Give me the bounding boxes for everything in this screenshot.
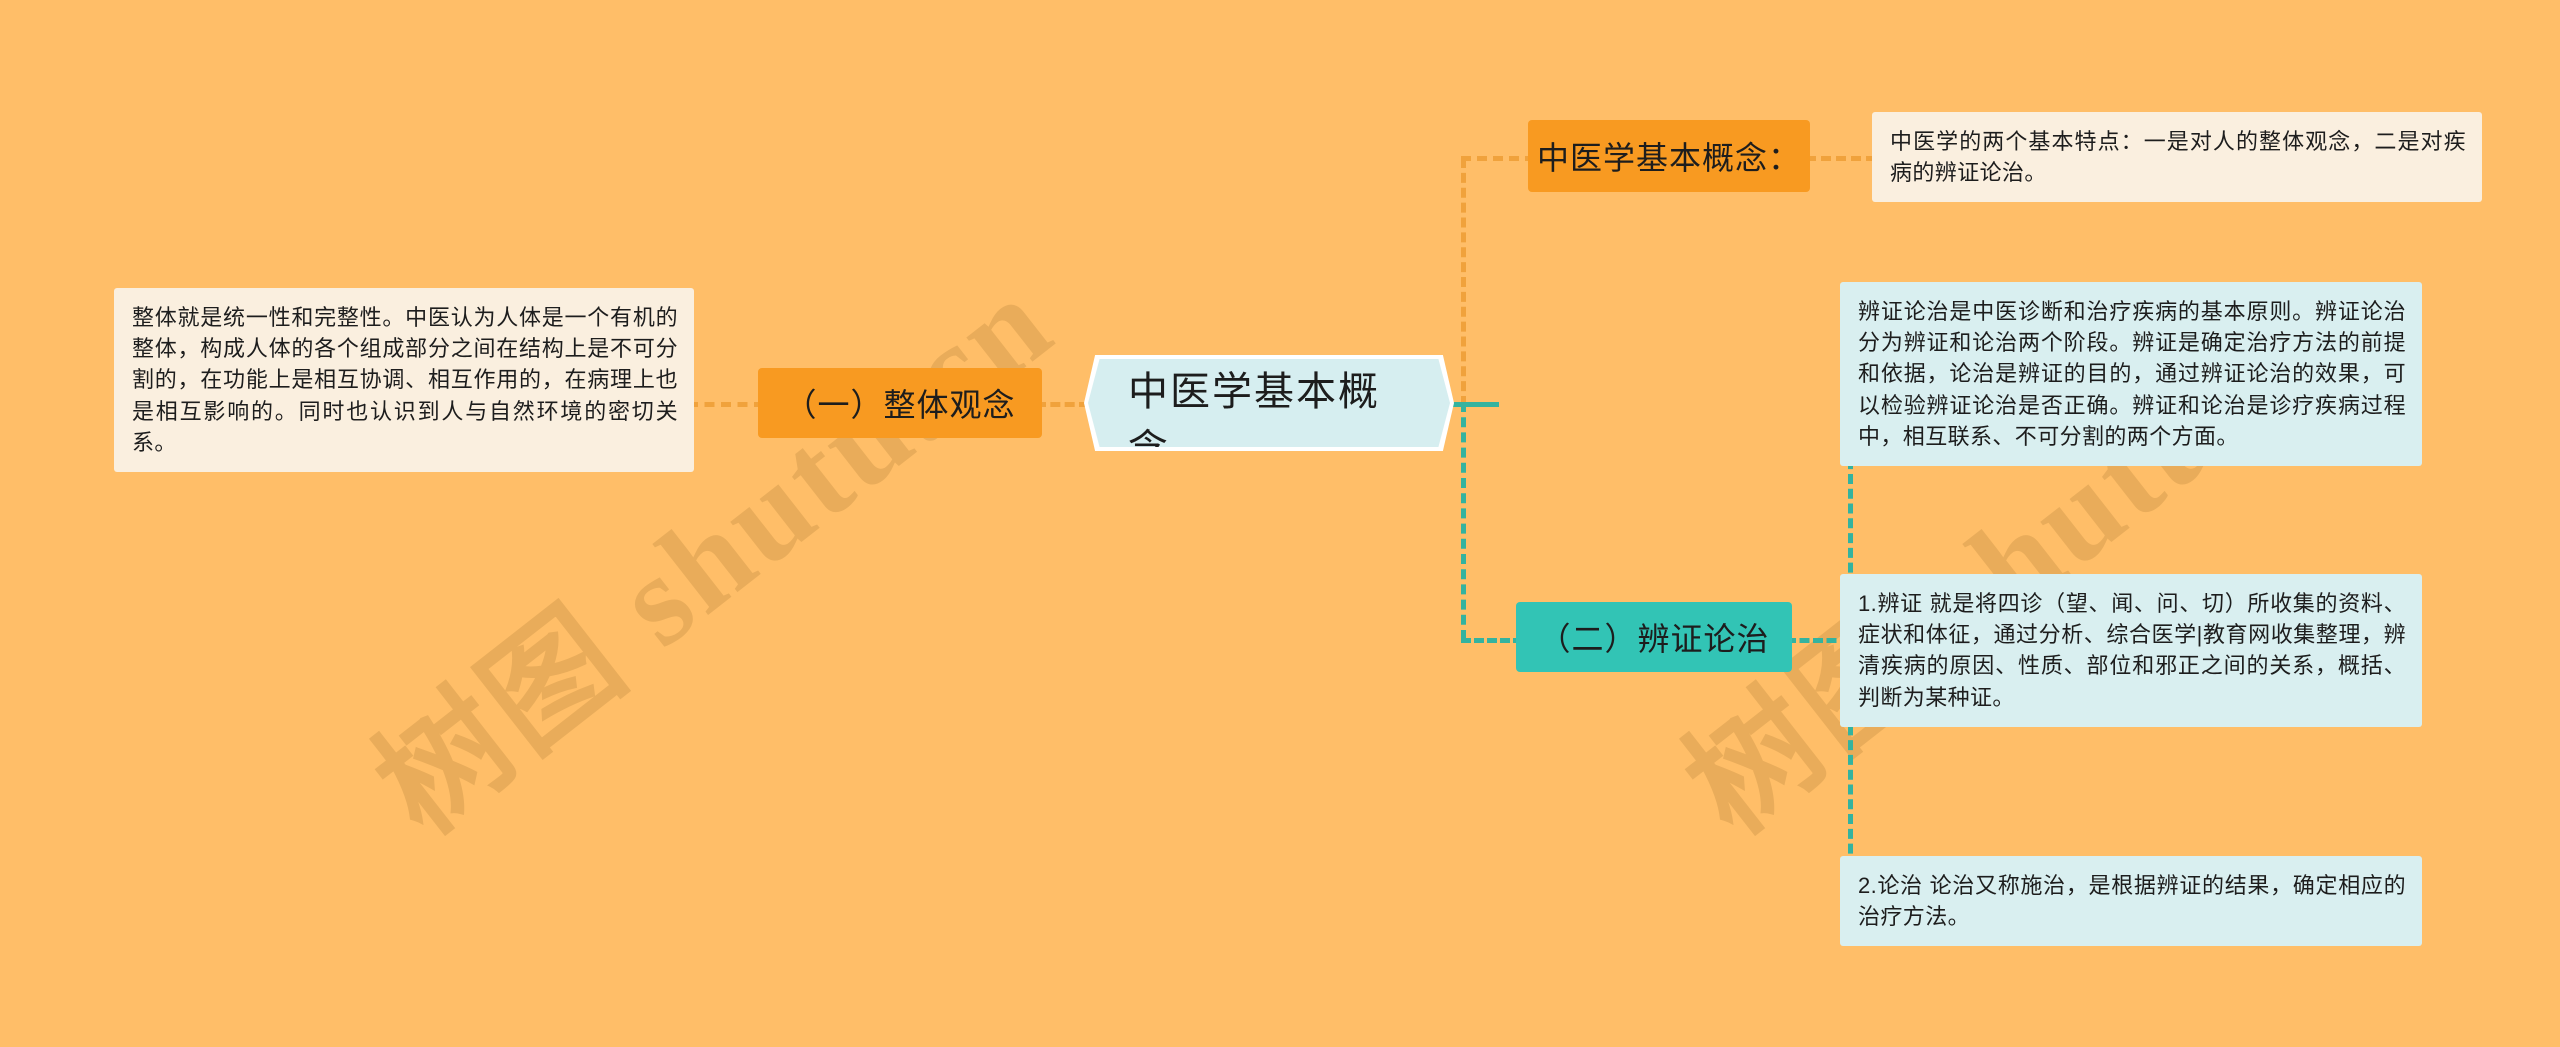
leaf-lunzhi-definition-text: 2.论治 论治又称施治，是根据辨证的结果，确定相应的治疗方法。 [1858,873,2406,929]
connector-to-syndrome-branch [1461,638,1523,643]
branch-node-holistic-view[interactable]: （一）整体观念 [758,368,1042,438]
branch-node-basic-concept[interactable]: 中医学基本概念： [1528,120,1810,192]
connector-trunk-upper [1461,158,1466,406]
leaf-two-features[interactable]: 中医学的两个基本特点：一是对人的整体观念，二是对疾病的辨证论治。 [1872,112,2482,202]
leaf-bianzheng-definition[interactable]: 1.辨证 就是将四诊（望、闻、问、切）所收集的资料、症状和体征，通过分析、综合医… [1840,574,2422,727]
branch-node-syndrome-differentiation[interactable]: （二）辨证论治 [1516,602,1792,672]
center-node-frame: 中医学基本概念 [1084,355,1454,451]
center-node[interactable]: 中医学基本概念 [1088,359,1450,447]
branch-node-holistic-view-label: （一）整体观念 [784,380,1015,426]
connector-holistic-to-leaf [688,402,764,407]
mindmap-canvas: 树图 shutu.cn 树图 shutu.cn 中医学基本概念 中医学基本概念：… [0,0,2560,1047]
leaf-holistic-detail[interactable]: 整体就是统一性和完整性。中医认为人体是一个有机的整体，构成人体的各个组成部分之间… [114,288,694,472]
connector-basic-concept-to-leaf [1806,156,1876,161]
leaf-bianzheng-definition-text: 1.辨证 就是将四诊（望、闻、问、切）所收集的资料、症状和体征，通过分析、综合医… [1858,591,2406,710]
connector-trunk-lower [1461,402,1466,640]
leaf-bianzheng-principle[interactable]: 辨证论治是中医诊断和治疗疾病的基本原则。辨证论治分为辨证和论治两个阶段。辨证是确… [1840,282,2422,466]
leaf-holistic-detail-text: 整体就是统一性和完整性。中医认为人体是一个有机的整体，构成人体的各个组成部分之间… [132,305,678,455]
leaf-lunzhi-definition[interactable]: 2.论治 论治又称施治，是根据辨证的结果，确定相应的治疗方法。 [1840,856,2422,946]
leaf-two-features-text: 中医学的两个基本特点：一是对人的整体观念，二是对疾病的辨证论治。 [1890,129,2466,185]
center-node-label: 中医学基本概念 [1128,370,1380,472]
connector-to-basic-concept [1461,156,1535,161]
leaf-bianzheng-principle-text: 辨证论治是中医诊断和治疗疾病的基本原则。辨证论治分为辨证和论治两个阶段。辨证是确… [1858,299,2406,449]
branch-node-basic-concept-label: 中医学基本概念： [1537,133,1801,179]
branch-node-syndrome-differentiation-label: （二）辨证论治 [1538,614,1769,660]
